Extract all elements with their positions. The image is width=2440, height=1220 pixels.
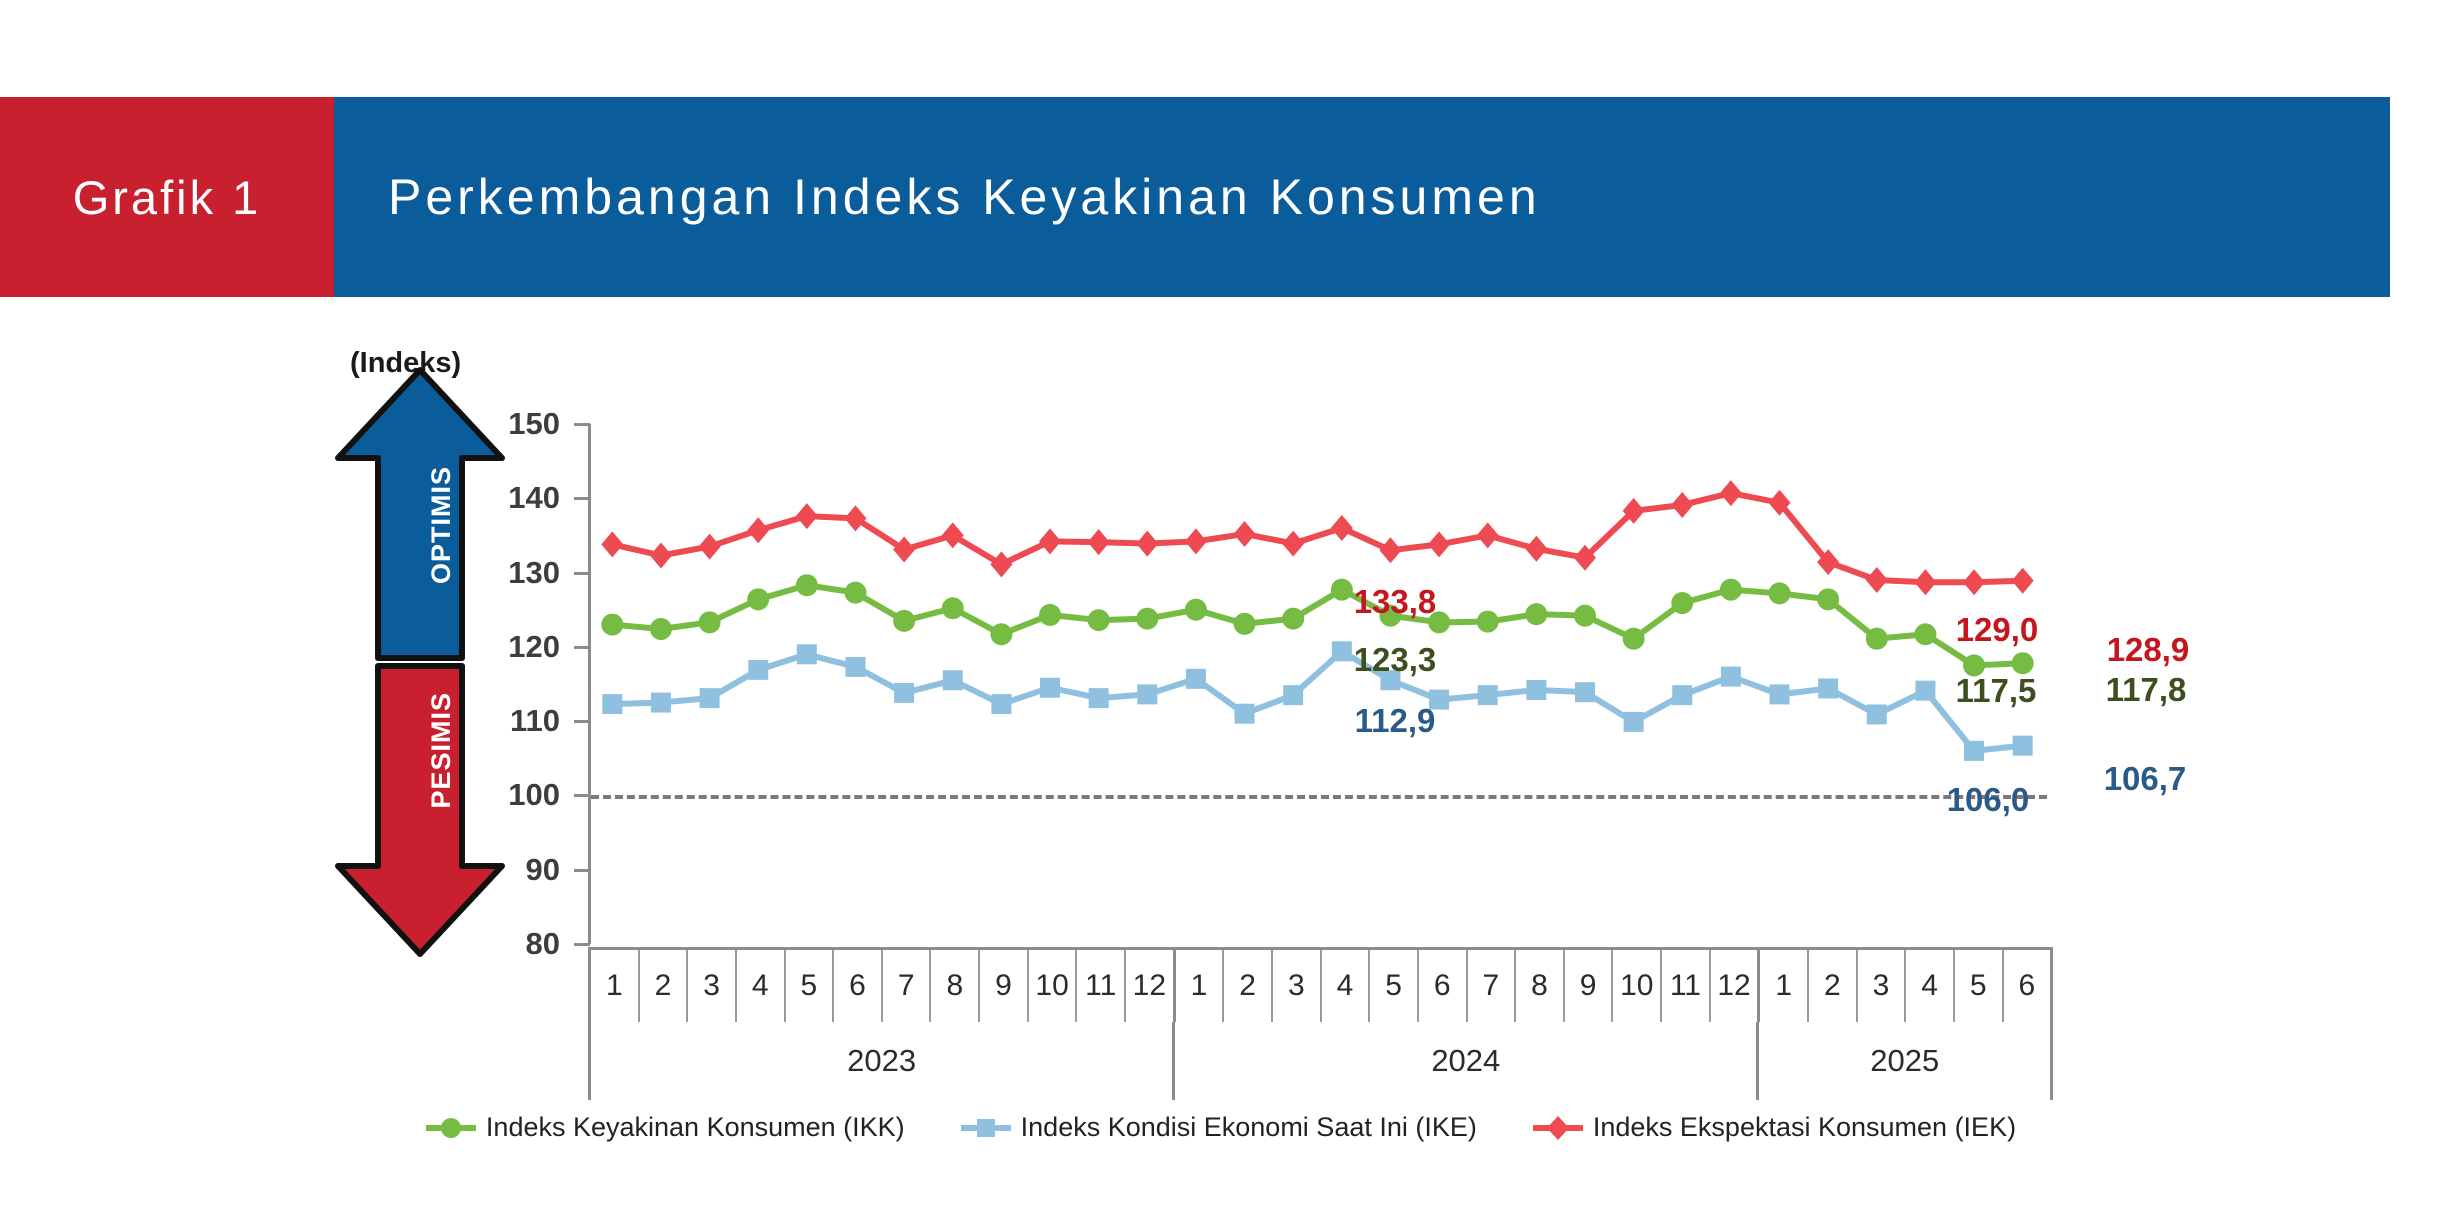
data-point-iek [1331, 515, 1353, 541]
x-axis-month-cell: 4 [1906, 950, 1955, 1022]
data-label-iek: 128,9 [2107, 631, 2190, 669]
data-point-ike [2013, 736, 2033, 756]
x-axis-month-cell: 1 [1176, 950, 1225, 1022]
x-axis-month-cell: 11 [1662, 950, 1711, 1022]
chart-container: (Indeks) OPTIMIS PESIMIS 809010011012013… [0, 297, 2440, 1220]
data-point-ike [1478, 685, 1498, 705]
data-point-ikk [601, 614, 623, 636]
y-axis-tick-label: 130 [440, 555, 560, 591]
series-ike [602, 641, 2032, 761]
data-point-ike [1040, 678, 1060, 698]
data-point-iek [699, 534, 721, 560]
data-point-ikk [1574, 605, 1596, 627]
data-point-ikk [1331, 579, 1353, 601]
data-point-iek [1914, 569, 1936, 595]
data-point-iek [2012, 568, 2034, 594]
x-axis-month-cell: 5 [1955, 950, 2004, 1022]
chart-title-bar: Perkembangan Indeks Keyakinan Konsumen [334, 97, 2390, 297]
data-point-iek [1720, 480, 1742, 506]
y-axis-tick-label: 150 [440, 406, 560, 442]
x-axis-month-cell: 10 [1613, 950, 1662, 1022]
data-point-ike [700, 688, 720, 708]
chart-legend: Indeks Keyakinan Konsumen (IKK)Indeks Ko… [0, 1112, 2440, 1143]
series-line-iek [612, 493, 2022, 582]
data-point-iek [1477, 522, 1499, 548]
data-point-ike [1575, 682, 1595, 702]
data-point-ikk [1623, 628, 1645, 650]
data-point-ike [602, 694, 622, 714]
x-axis-month-cell: 5 [786, 950, 835, 1022]
data-point-iek [1282, 531, 1304, 557]
data-point-ike [1526, 680, 1546, 700]
data-point-ikk [747, 588, 769, 610]
data-point-iek [1185, 528, 1207, 554]
data-point-ike [797, 644, 817, 664]
x-axis-month-cell: 3 [688, 950, 737, 1022]
y-axis-tick-label: 90 [440, 852, 560, 888]
x-axis-month-cell: 1 [1760, 950, 1809, 1022]
x-axis-month-cell: 2 [1224, 950, 1273, 1022]
data-point-ike [1672, 685, 1692, 705]
data-point-ikk [1185, 599, 1207, 621]
data-point-ikk [1769, 582, 1791, 604]
data-point-ikk [1282, 608, 1304, 630]
x-axis-year-cell: 2025 [1759, 1022, 2050, 1100]
x-axis-month-cell: 3 [1273, 950, 1322, 1022]
chart-header-band: Grafik 1 Perkembangan Indeks Keyakinan K… [0, 97, 2390, 297]
data-point-iek [1234, 521, 1256, 547]
data-point-ikk [1914, 623, 1936, 645]
legend-label: Indeks Kondisi Ekonomi Saat Ini (IKE) [1021, 1112, 1477, 1143]
x-axis-month-cell: 10 [1029, 950, 1078, 1022]
x-axis-month-cell: 9 [980, 950, 1029, 1022]
data-point-ike [991, 694, 1011, 714]
data-point-ikk [1866, 628, 1888, 650]
x-axis-month-cell: 12 [1711, 950, 1761, 1022]
x-axis-table: 123456789101112123456789101112123456 202… [588, 947, 2053, 1100]
data-point-ikk [1817, 588, 1839, 610]
x-axis-year-cell: 2023 [591, 1022, 1175, 1100]
data-point-ike [894, 683, 914, 703]
series-line-ikk [612, 585, 2022, 665]
plot-area [588, 424, 2047, 944]
data-point-ikk [1088, 609, 1110, 631]
x-axis-month-cell: 5 [1370, 950, 1419, 1022]
data-point-ikk [2012, 652, 2034, 674]
data-point-iek [1866, 567, 1888, 593]
data-label-ike: 106,0 [1947, 781, 2030, 819]
x-axis-month-cell: 2 [1809, 950, 1858, 1022]
data-point-iek [1088, 529, 1110, 555]
x-axis-month-cell: 6 [834, 950, 883, 1022]
data-point-iek [1379, 537, 1401, 563]
x-axis-month-cell: 2 [640, 950, 689, 1022]
x-axis-month-cell: 7 [883, 950, 932, 1022]
data-point-ikk [1234, 613, 1256, 635]
x-axis-month-cell: 8 [1516, 950, 1565, 1022]
data-point-ike [1089, 688, 1109, 708]
x-axis-month-cell: 12 [1126, 950, 1176, 1022]
y-axis-tick-label: 120 [440, 629, 560, 665]
x-axis-month-cell: 4 [1322, 950, 1371, 1022]
data-point-ikk [1477, 611, 1499, 633]
data-point-ikk [942, 597, 964, 619]
data-point-iek [650, 542, 672, 568]
data-point-ikk [1136, 608, 1158, 630]
chart-number-label: Grafik 1 [73, 170, 262, 225]
data-point-ikk [1525, 603, 1547, 625]
data-point-ike [1186, 669, 1206, 689]
data-point-ikk [650, 618, 672, 640]
data-label-iek: 133,8 [1354, 583, 1437, 621]
x-axis-month-cell: 7 [1468, 950, 1517, 1022]
x-axis-year-row: 202320242025 [591, 1022, 2050, 1100]
x-axis-month-cell: 3 [1858, 950, 1907, 1022]
x-axis-month-cell: 6 [2004, 950, 2051, 1022]
data-point-iek [844, 505, 866, 531]
data-label-ikk: 123,3 [1354, 641, 1437, 679]
data-point-ike [651, 693, 671, 713]
data-point-iek [1428, 531, 1450, 557]
data-point-ike [1867, 704, 1887, 724]
data-point-ikk [990, 623, 1012, 645]
x-axis-month-cell: 4 [737, 950, 786, 1022]
data-label-ike: 112,9 [1355, 702, 1436, 740]
x-axis-month-cell: 11 [1077, 950, 1126, 1022]
data-point-ike [1235, 704, 1255, 724]
x-axis-year-cell: 2024 [1175, 1022, 1759, 1100]
data-point-ikk [844, 582, 866, 604]
page-title: Perkembangan Indeks Keyakinan Konsumen [388, 168, 1541, 226]
y-axis-tick-label: 80 [440, 926, 560, 962]
legend-marker-icon [1531, 1113, 1585, 1143]
data-point-ike [1283, 685, 1303, 705]
data-point-iek [990, 551, 1012, 577]
data-point-iek [1136, 531, 1158, 557]
data-point-iek [893, 537, 915, 563]
data-point-ike [1721, 667, 1741, 687]
data-point-iek [601, 531, 623, 557]
data-point-ike [1137, 684, 1157, 704]
data-point-ike [845, 657, 865, 677]
data-point-iek [1525, 536, 1547, 562]
legend-label: Indeks Keyakinan Konsumen (IKK) [486, 1112, 905, 1143]
data-point-ike [1770, 684, 1790, 704]
data-label-iek: 129,0 [1956, 611, 2039, 649]
data-label-ikk: 117,8 [2106, 671, 2187, 709]
data-point-ike [943, 670, 963, 690]
data-point-ikk [699, 611, 721, 633]
data-point-ikk [796, 574, 818, 596]
data-point-ikk [1720, 579, 1742, 601]
data-point-iek [1039, 528, 1061, 554]
legend-marker-icon [424, 1113, 478, 1143]
data-point-iek [1671, 492, 1693, 518]
data-point-iek [747, 517, 769, 543]
y-axis-tick-label: 110 [440, 703, 560, 739]
legend-marker-icon [959, 1113, 1013, 1143]
data-point-iek [796, 503, 818, 529]
legend-item[interactable]: Indeks Ekspektasi Konsumen (IEK) [1531, 1112, 2016, 1143]
legend-item[interactable]: Indeks Kondisi Ekonomi Saat Ini (IKE) [959, 1112, 1477, 1143]
series-line-ike [612, 651, 2022, 751]
data-point-iek [1963, 569, 1985, 595]
x-axis-month-cell: 1 [591, 950, 640, 1022]
chart-number-tag: Grafik 1 [0, 97, 334, 297]
data-point-ikk [1039, 604, 1061, 626]
legend-label: Indeks Ekspektasi Konsumen (IEK) [1593, 1112, 2016, 1143]
data-point-ikk [893, 610, 915, 632]
data-point-ike [748, 660, 768, 680]
x-axis-month-cell: 8 [931, 950, 980, 1022]
data-label-ike: 106,7 [2104, 760, 2187, 798]
data-point-ike [1624, 712, 1644, 732]
data-point-ike [1915, 681, 1935, 701]
x-axis-month-row: 123456789101112123456789101112123456 [591, 950, 2050, 1022]
x-axis-month-cell: 6 [1419, 950, 1468, 1022]
series-iek [601, 480, 2033, 595]
legend-item[interactable]: Indeks Keyakinan Konsumen (IKK) [424, 1112, 905, 1143]
y-axis-tick-label: 140 [440, 480, 560, 516]
data-label-ikk: 117,5 [1956, 672, 2037, 710]
data-point-ikk [1671, 592, 1693, 614]
data-point-ike [1964, 741, 1984, 761]
data-point-iek [942, 522, 964, 548]
data-point-ike [1332, 641, 1352, 661]
x-axis-month-cell: 9 [1565, 950, 1614, 1022]
y-axis-tick-label: 100 [440, 777, 560, 813]
data-point-ike [1818, 678, 1838, 698]
